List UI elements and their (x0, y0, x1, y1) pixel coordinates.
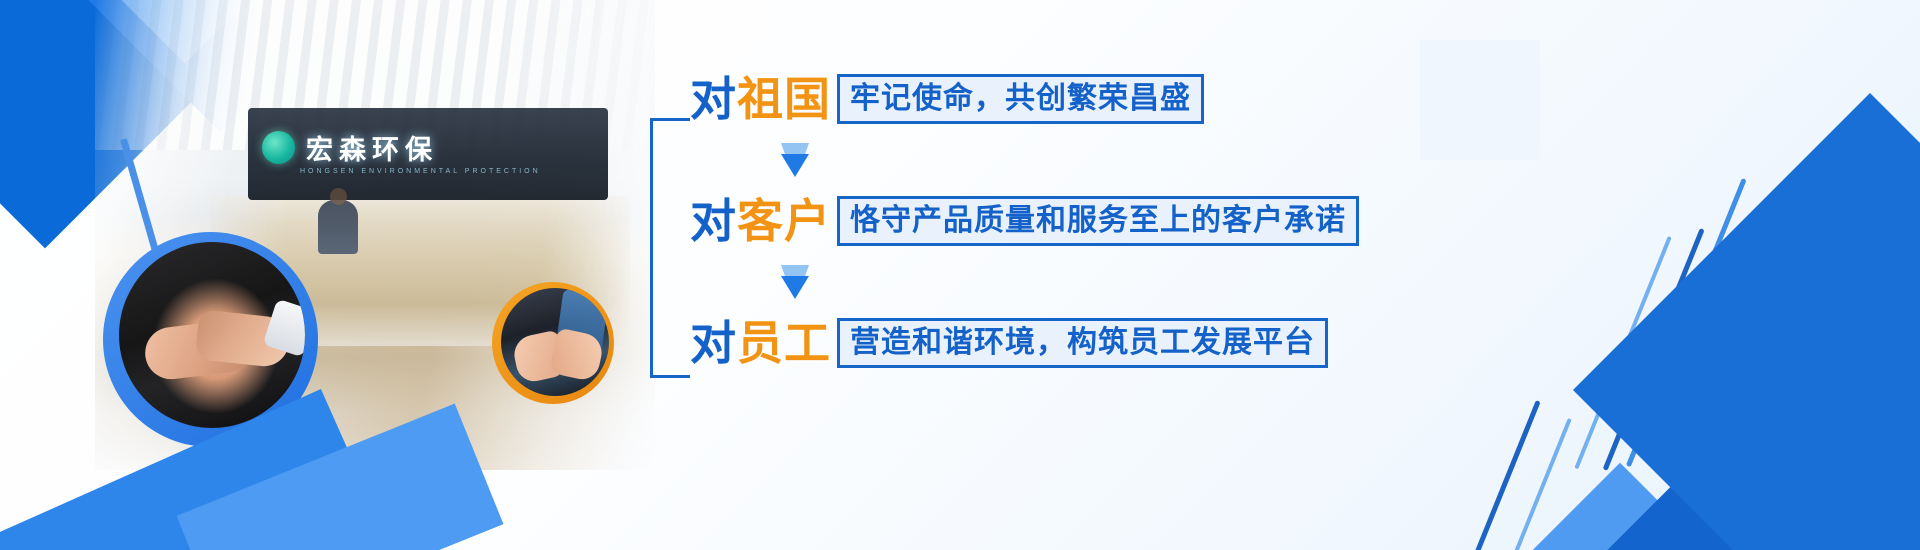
value-heading-employee: 对员工 (690, 320, 831, 366)
chevron-down-icon (778, 265, 812, 299)
chevron-down-icon-top (781, 265, 809, 276)
brand-name-cn: 宏森环保 (306, 128, 438, 167)
value-row-employee: 对员工 营造和谐环境，构筑员工发展平台 (690, 312, 1650, 374)
brand-name-en: HONGSEN ENVIRONMENTAL PROTECTION (300, 168, 541, 175)
chevron-down-icon-bottom (781, 276, 809, 299)
connector-arrow-2-wrap (690, 252, 1650, 312)
bracket-connector (650, 118, 690, 378)
applause-photo-ring (492, 282, 614, 404)
value-heading-country: 对祖国 (690, 76, 831, 122)
brand-sign: 宏森环保 (262, 128, 438, 167)
value-statement-country: 牢记使命，共创繁荣昌盛 (837, 74, 1204, 125)
chevron-down-icon-top (781, 143, 809, 154)
company-values-banner: 宏森环保 HONGSEN ENVIRONMENTAL PROTECTION (0, 0, 1920, 550)
value-prefix: 对 (690, 316, 737, 370)
handshake-photo (119, 242, 305, 428)
applause-photo (501, 288, 609, 396)
value-statement-employee: 营造和谐环境，构筑员工发展平台 (837, 318, 1328, 369)
value-target: 员工 (737, 316, 831, 370)
value-prefix: 对 (690, 194, 737, 248)
value-target: 祖国 (737, 72, 831, 126)
value-target: 客户 (737, 194, 831, 248)
value-heading-customer: 对客户 (690, 198, 831, 244)
globe-leaf-logo-icon (262, 131, 295, 164)
chevron-down-icon (778, 143, 812, 177)
decor-soft-square (1420, 40, 1540, 160)
chevron-down-icon-bottom (781, 154, 809, 177)
value-statement-customer: 恪守产品质量和服务至上的客户承诺 (837, 196, 1359, 247)
staff-person (318, 200, 358, 254)
value-row-customer: 对客户 恪守产品质量和服务至上的客户承诺 (690, 190, 1650, 252)
value-prefix: 对 (690, 72, 737, 126)
